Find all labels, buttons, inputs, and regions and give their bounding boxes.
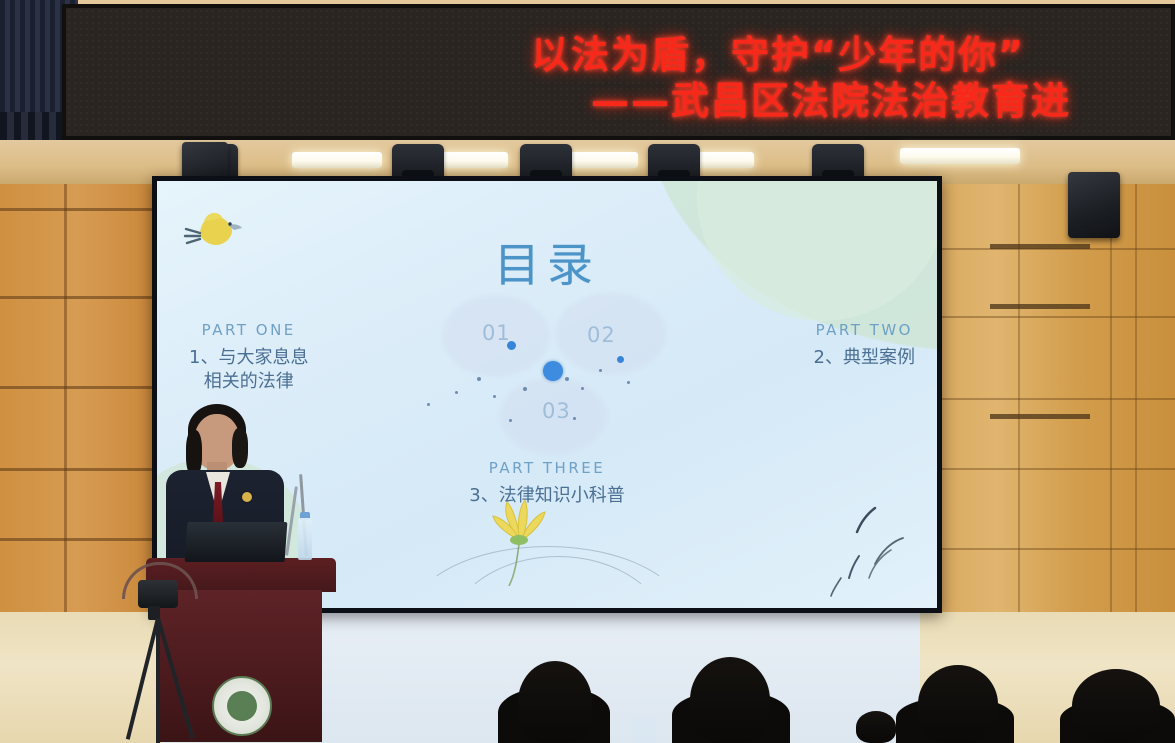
petal-number-02: 02: [587, 323, 616, 347]
speck: [627, 381, 630, 384]
part-two-block[interactable]: PART TWO 2、典型案例: [814, 321, 915, 370]
left-wall-panel: [0, 168, 160, 638]
speck: [581, 387, 584, 390]
speck: [573, 417, 576, 420]
part-two-text: 2、典型案例: [814, 346, 915, 370]
auditorium-scene: 以法为盾，守护“少年的你” ——武昌区法院法治教育进: [0, 0, 1175, 743]
petal-number-01: 01: [482, 321, 511, 345]
audience-head: [690, 657, 770, 743]
center-blue-dot: [543, 361, 563, 381]
led-banner-line2: ——武昌区法院法治教育进: [531, 78, 1171, 124]
camera-icon: [138, 580, 178, 608]
speck: [427, 403, 430, 406]
speck: [477, 377, 481, 381]
camera-tripod: [118, 580, 196, 743]
speck: [565, 377, 569, 381]
presenter-hair-right: [232, 428, 248, 468]
scribble-decoration: [817, 490, 927, 600]
part-one-block[interactable]: PART ONE 1、与大家息息 相关的法律: [189, 321, 308, 395]
part-one-text: 1、与大家息息 相关的法律: [189, 346, 308, 395]
part-one-label: PART ONE: [189, 321, 308, 339]
slide-title: 目录: [157, 229, 937, 295]
led-banner-board: 以法为盾，守护“少年的你” ——武昌区法院法治教育进: [62, 4, 1175, 140]
audience-head: [518, 661, 592, 743]
led-banner-text: 以法为盾，守护“少年的你” ——武昌区法院法治教育进: [531, 32, 1171, 125]
speck: [509, 419, 512, 422]
microphone-1: [285, 486, 298, 556]
accent-dot: [507, 341, 516, 350]
speck: [493, 395, 496, 398]
speck: [523, 387, 527, 391]
laptop: [185, 522, 288, 562]
lapel-badge-icon: [242, 492, 252, 502]
water-bottle: [298, 518, 312, 560]
audience-head: [918, 665, 998, 743]
ceiling-speaker-right: [1068, 172, 1120, 238]
accent-dot: [617, 356, 624, 363]
part-two-label: PART TWO: [814, 321, 915, 339]
petal-number-03: 03: [542, 399, 571, 423]
audience-head-small: [856, 711, 896, 743]
led-banner-line1: 以法为盾，守护“少年的你”: [531, 32, 1171, 78]
audience-head: [1072, 669, 1160, 743]
school-seal-icon: [212, 676, 272, 736]
audience-water-bottle: [632, 717, 656, 743]
speck: [455, 391, 458, 394]
speck: [599, 369, 602, 372]
